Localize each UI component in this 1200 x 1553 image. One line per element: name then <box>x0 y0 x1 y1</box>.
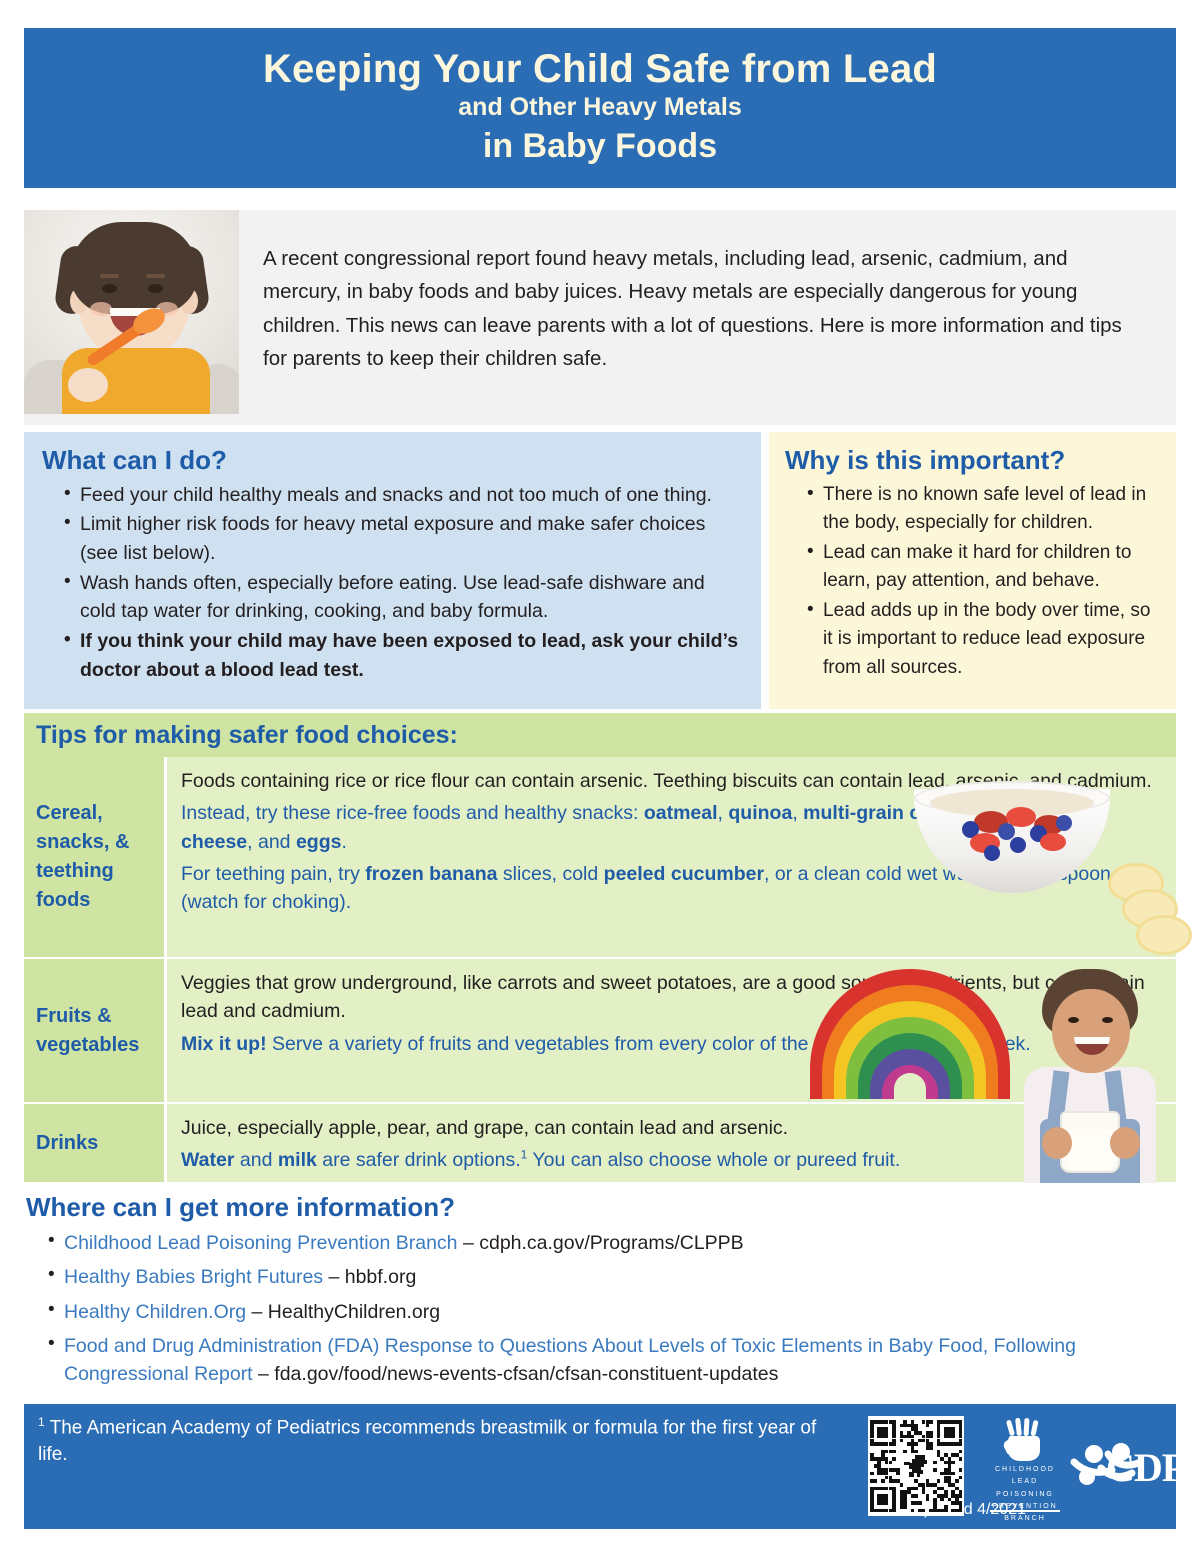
tips-row-body: Foods containing rice or rice flour can … <box>167 757 1176 957</box>
clppb-logo: CHILDHOOD LEAD POISONING PREVENTION BRAN… <box>982 1418 1068 1514</box>
qr-module <box>951 1461 955 1465</box>
clppb-logo-text: CHILDHOOD LEAD POISONING PREVENTION BRAN… <box>982 1464 1068 1525</box>
qr-module <box>870 1472 874 1476</box>
tips-row-body: Veggies that grow underground, like carr… <box>167 959 1176 1102</box>
more-info-item[interactable]: Childhood Lead Poisoning Prevention Bran… <box>48 1229 1176 1257</box>
tips-heading-text: Tips for making safer food choices: <box>36 721 458 750</box>
qr-module <box>900 1439 904 1443</box>
more-info-list: Childhood Lead Poisoning Prevention Bran… <box>24 1229 1176 1388</box>
cdph-logo: CDPH <box>1070 1432 1196 1502</box>
tips-row: Cereal, snacks, & teething foodsFoods co… <box>24 757 1176 959</box>
more-info-section: Where can I get more information? Childh… <box>24 1192 1176 1392</box>
intro-paragraph: A recent congressional report found heav… <box>239 210 1176 425</box>
qr-module <box>914 1494 918 1498</box>
qr-module <box>885 1435 889 1439</box>
resource-name[interactable]: Healthy Children.Org <box>64 1301 246 1323</box>
what-can-i-do-item: Feed your child healthy meals and snacks… <box>64 481 743 510</box>
handprint-icon <box>1000 1418 1048 1462</box>
what-can-i-do-list: Feed your child healthy meals and snacks… <box>42 481 743 685</box>
tips-row-label: Fruits & vegetables <box>24 959 167 1102</box>
more-info-item[interactable]: Food and Drug Administration (FDA) Respo… <box>48 1332 1176 1389</box>
qr-module <box>914 1487 918 1491</box>
qr-module <box>959 1450 963 1454</box>
resource-url[interactable]: fda.gov/food/news-events-cfsan/cfsan-con… <box>274 1363 778 1385</box>
berry <box>984 845 1000 861</box>
qr-module <box>892 1442 896 1446</box>
page-footer: 1 The American Academy of Pediatrics rec… <box>24 1404 1176 1529</box>
qr-module <box>914 1450 918 1454</box>
qr-module <box>922 1509 926 1513</box>
tips-paragraph: Juice, especially apple, pear, and grape… <box>181 1114 1162 1142</box>
rainbow-center <box>894 1073 926 1099</box>
qr-module <box>892 1509 896 1513</box>
qr-module <box>929 1420 933 1424</box>
qr-module <box>896 1472 900 1476</box>
qr-module <box>903 1450 907 1454</box>
footnote-marker: 1 <box>38 1415 45 1429</box>
qr-module <box>918 1501 922 1505</box>
qr-module <box>959 1476 963 1480</box>
what-can-i-do-item: Wash hands often, especially before eati… <box>64 569 743 626</box>
qr-module <box>951 1435 955 1439</box>
qr-module <box>914 1442 918 1446</box>
qr-module <box>929 1446 933 1450</box>
qr-module <box>937 1479 941 1483</box>
why-important-item: There is no known safe level of lead in … <box>807 481 1160 538</box>
page-header: Keeping Your Child Safe from Lead and Ot… <box>24 28 1176 188</box>
more-info-item[interactable]: Healthy Children.Org – HealthyChildren.o… <box>48 1298 1176 1326</box>
banana-slice <box>1136 915 1192 955</box>
resource-name[interactable]: Childhood Lead Poisoning Prevention Bran… <box>64 1232 458 1254</box>
more-info-heading: Where can I get more information? <box>26 1192 1176 1223</box>
qr-module <box>929 1435 933 1439</box>
tips-paragraph: Water and milk are safer drink options.1… <box>181 1146 1162 1174</box>
page-title-line2: and Other Heavy Metals <box>458 94 741 122</box>
cdph-logo-text: CDPH <box>1106 1444 1200 1491</box>
qr-module <box>900 1483 904 1487</box>
info-panels: What can I do? Feed your child healthy m… <box>24 432 1176 709</box>
qr-module <box>892 1457 896 1461</box>
tips-heading: Tips for making safer food choices: <box>24 713 1176 757</box>
oatmeal-bowl-image <box>900 767 1170 952</box>
berry <box>1040 833 1066 851</box>
what-can-i-do-item: Limit higher risk foods for heavy metal … <box>64 510 743 567</box>
what-can-i-do-panel: What can I do? Feed your child healthy m… <box>24 432 761 709</box>
berry <box>1056 815 1072 831</box>
qr-module <box>959 1509 963 1513</box>
qr-module <box>951 1472 955 1476</box>
tips-rows: Cereal, snacks, & teething foodsFoods co… <box>24 757 1176 1182</box>
more-info-item[interactable]: Healthy Babies Bright Futures – hbbf.org <box>48 1263 1176 1291</box>
resource-url[interactable]: hbbf.org <box>345 1266 417 1288</box>
qr-module <box>959 1468 963 1472</box>
baby-eating-photo <box>24 210 239 414</box>
why-important-list: There is no known safe level of lead in … <box>785 481 1160 683</box>
footnote-text: The American Academy of Pediatrics recom… <box>38 1417 816 1465</box>
why-important-item: Lead adds up in the body over time, so i… <box>807 597 1160 683</box>
qr-module <box>926 1424 930 1428</box>
why-important-panel: Why is this important? There is no known… <box>769 432 1176 709</box>
qr-module <box>885 1501 889 1505</box>
tips-row-body: Juice, especially apple, pear, and grape… <box>167 1104 1176 1182</box>
dino-glyph <box>904 1454 930 1478</box>
qr-module <box>944 1509 948 1513</box>
page-title-line3: in Baby Foods <box>483 128 717 165</box>
qr-module <box>959 1494 963 1498</box>
qr-module <box>940 1498 944 1502</box>
tips-section: Tips for making safer food choices: Cere… <box>24 713 1176 1182</box>
qr-module <box>933 1461 937 1465</box>
clppb-line-4: BRANCH <box>982 1513 1068 1525</box>
qr-module <box>903 1505 907 1509</box>
qr-module <box>959 1457 963 1461</box>
tips-row-label: Drinks <box>24 1104 167 1182</box>
footnote: 1 The American Academy of Pediatrics rec… <box>38 1414 828 1469</box>
qr-module <box>874 1479 878 1483</box>
rainbow-fruit-image <box>807 963 1012 1099</box>
resource-name[interactable]: Healthy Babies Bright Futures <box>64 1266 323 1288</box>
qr-module <box>933 1468 937 1472</box>
resource-url[interactable]: cdph.ca.gov/Programs/CLPPB <box>479 1232 743 1254</box>
tips-row: Fruits & vegetablesVeggies that grow und… <box>24 959 1176 1104</box>
fact-sheet-page: Keeping Your Child Safe from Lead and Ot… <box>0 0 1200 1553</box>
qr-module <box>911 1509 915 1513</box>
what-can-i-do-item: If you think your child may have been ex… <box>64 627 743 684</box>
tips-row-label: Cereal, snacks, & teething foods <box>24 757 167 957</box>
resource-url[interactable]: HealthyChildren.org <box>268 1301 440 1323</box>
why-important-heading: Why is this important? <box>785 446 1160 475</box>
qr-module <box>955 1479 959 1483</box>
what-can-i-do-heading: What can I do? <box>42 446 743 475</box>
tips-row: DrinksJuice, especially apple, pear, and… <box>24 1104 1176 1182</box>
qr-module <box>892 1450 896 1454</box>
clppb-divider <box>990 1510 1060 1512</box>
qr-code[interactable] <box>868 1416 964 1516</box>
qr-module <box>881 1479 885 1483</box>
qr-module <box>926 1498 930 1502</box>
why-important-item: Lead can make it hard for children to le… <box>807 539 1160 596</box>
intro-section: A recent congressional report found heav… <box>24 210 1176 425</box>
qr-module <box>959 1442 963 1446</box>
qr-module <box>889 1461 893 1465</box>
clppb-line-1: CHILDHOOD <box>982 1464 1068 1476</box>
berry <box>1010 837 1026 853</box>
clppb-line-2: LEAD POISONING <box>982 1476 1068 1501</box>
page-title-line1: Keeping Your Child Safe from Lead <box>263 48 937 90</box>
